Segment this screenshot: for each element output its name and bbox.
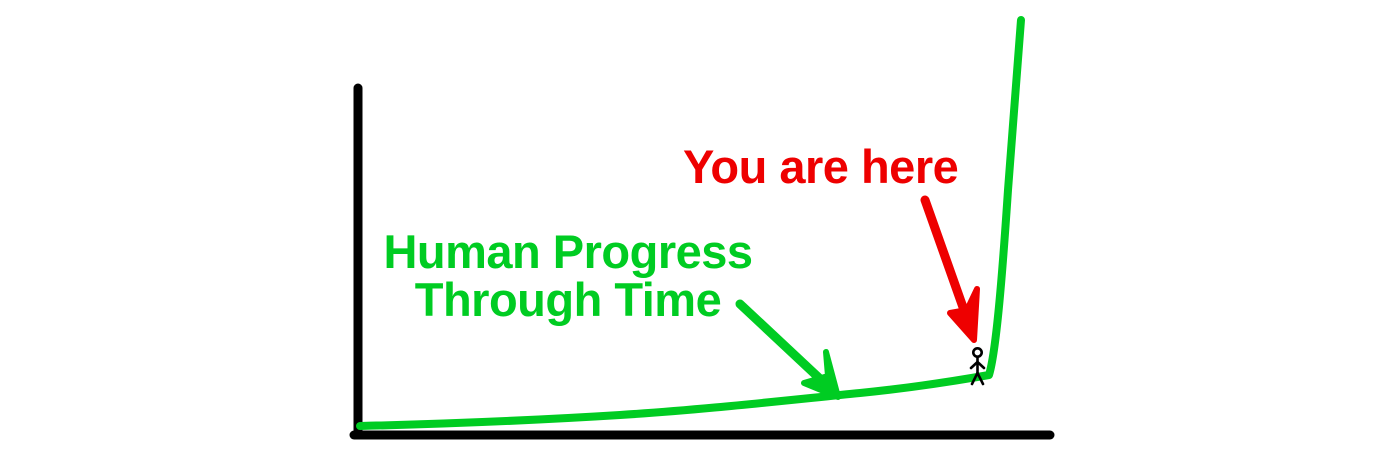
you-are-here-label: You are here bbox=[683, 143, 958, 191]
stick-figure-head bbox=[973, 348, 981, 356]
progress-curve-group bbox=[360, 20, 1021, 426]
progress-curve bbox=[360, 20, 1021, 426]
series-label: Human Progress Through Time bbox=[373, 228, 763, 324]
chart-canvas: Human Progress Through Time You are here bbox=[0, 0, 1400, 467]
series-label-line1: Human Progress bbox=[383, 225, 752, 278]
series-label-line2: Through Time bbox=[373, 276, 763, 324]
red-arrow-icon bbox=[925, 200, 977, 340]
